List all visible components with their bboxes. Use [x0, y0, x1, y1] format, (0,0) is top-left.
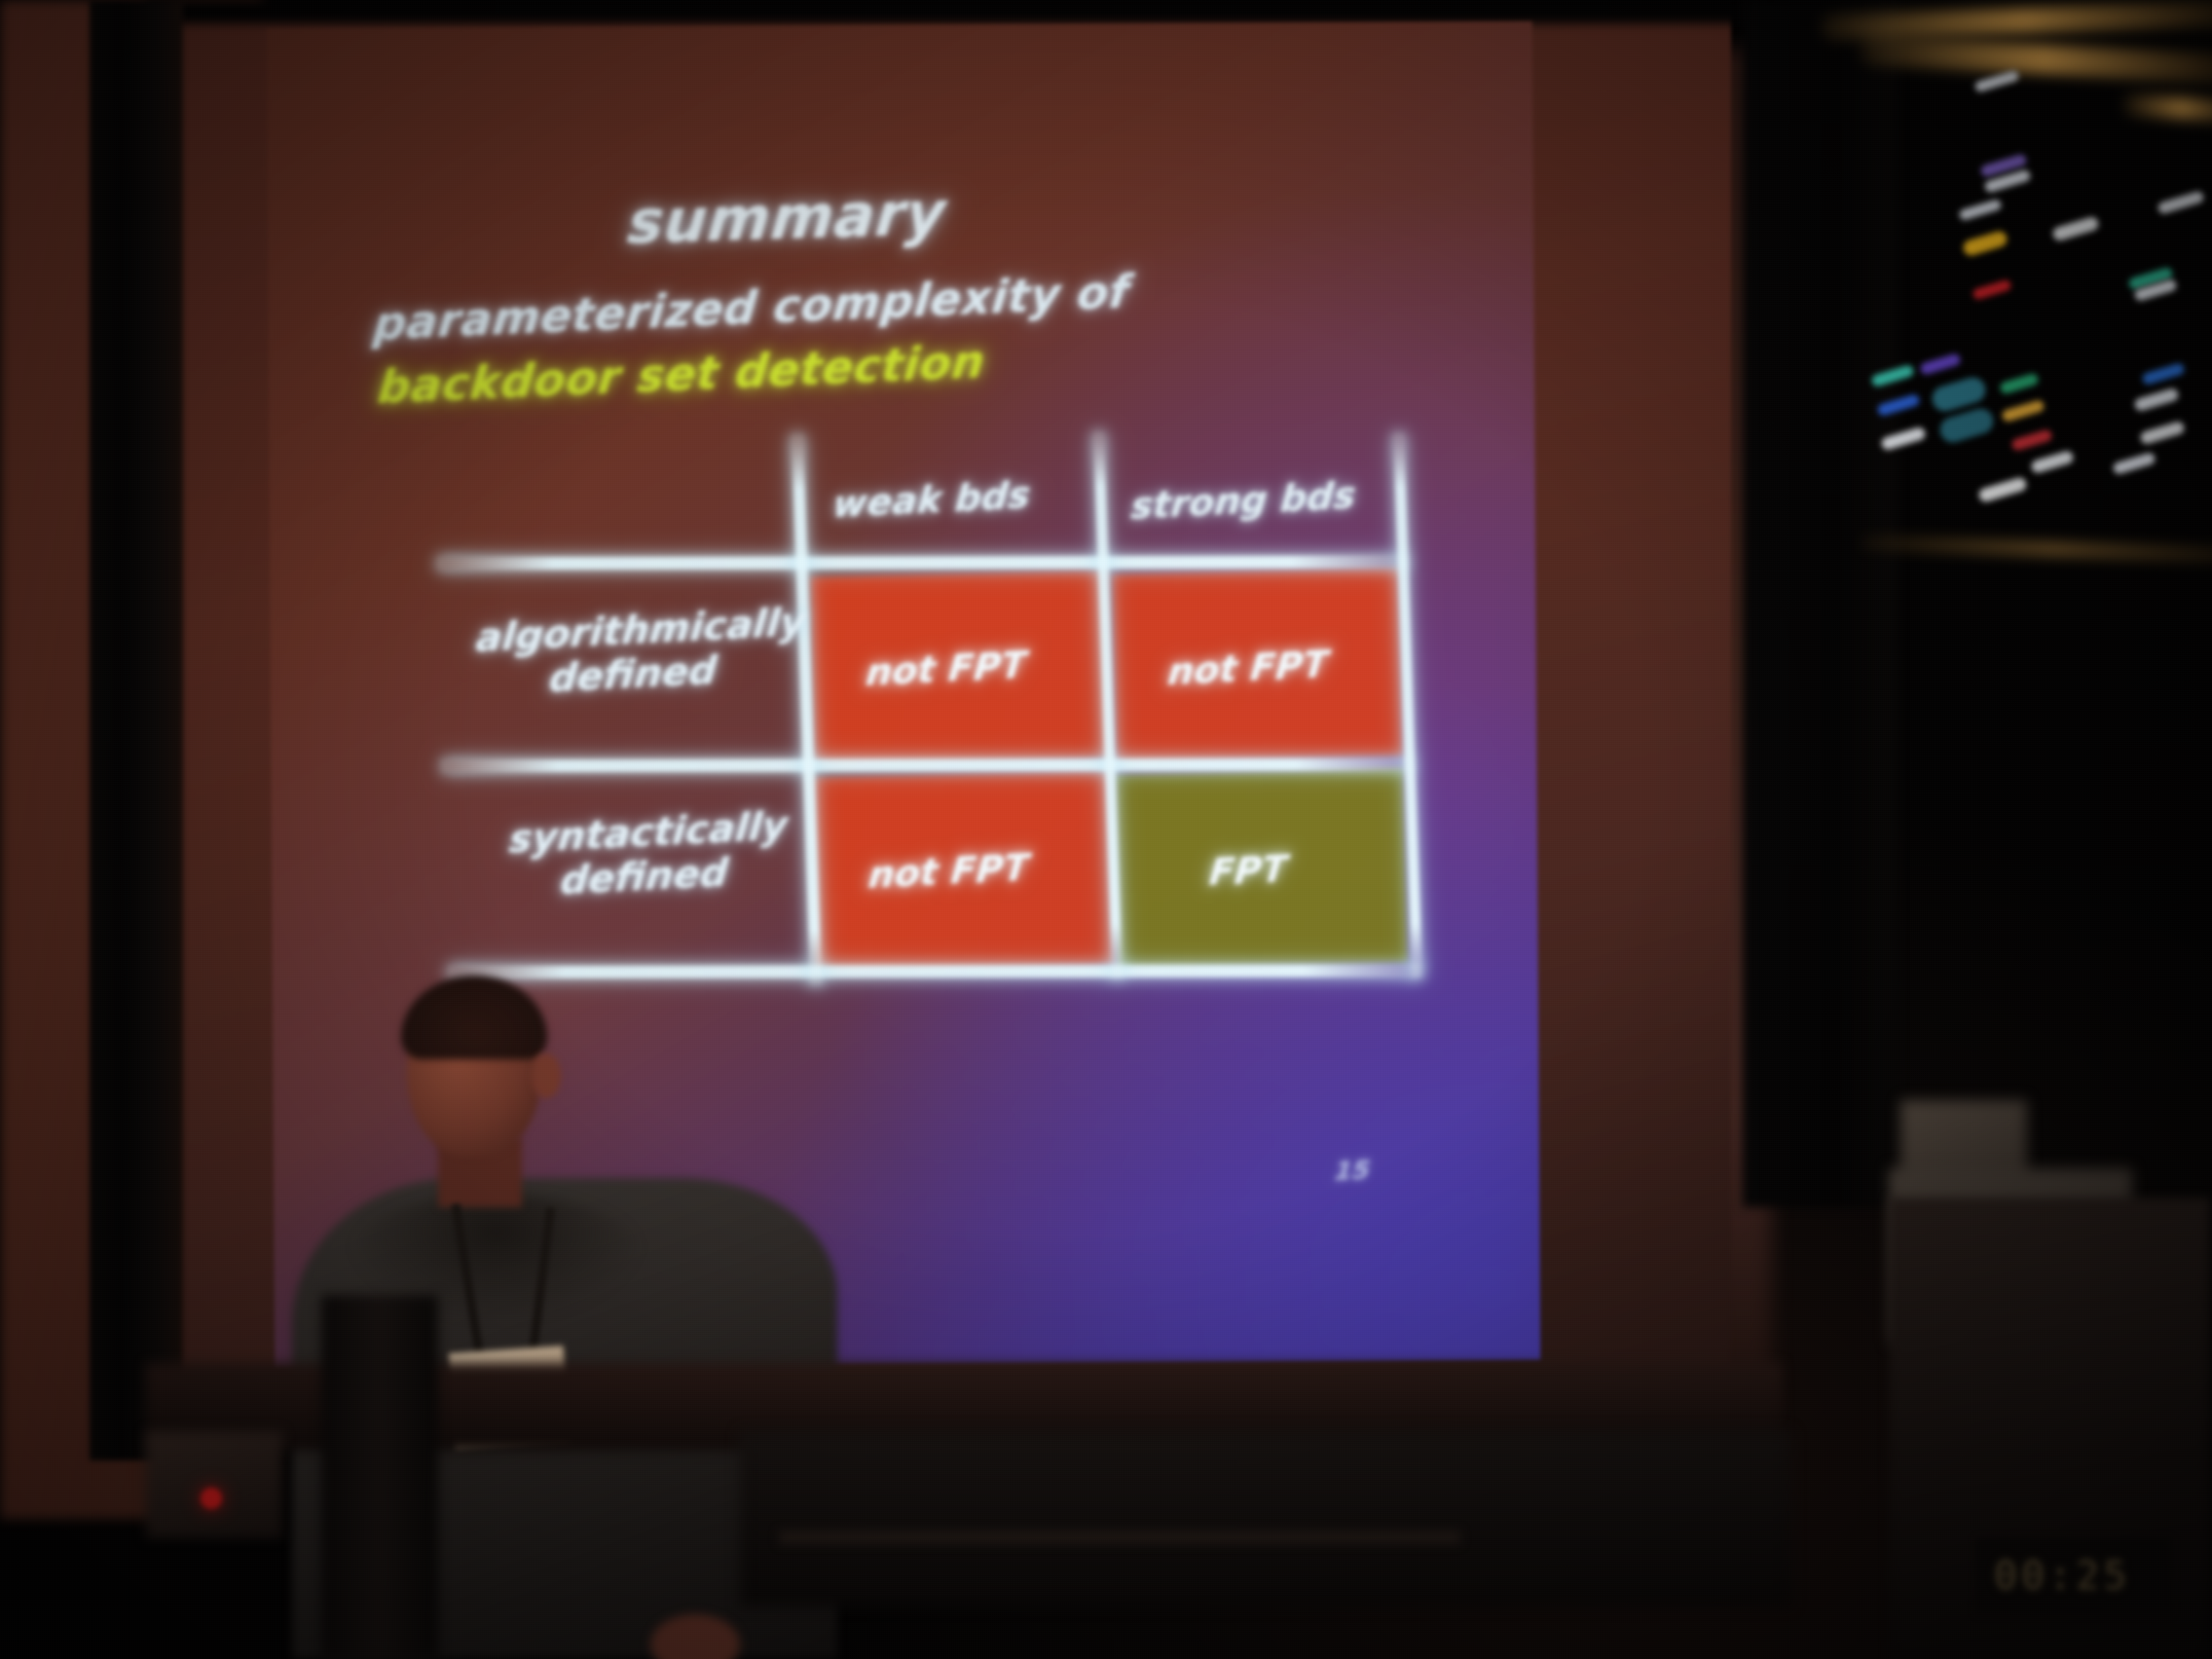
light-streak-15 — [2001, 399, 2046, 423]
light-streak-22 — [2112, 452, 2157, 475]
table-column-header-strong-bds: strong bds — [1129, 474, 1358, 529]
screen-left-frame-bar — [90, 0, 183, 1460]
ceiling-beam-lower — [1860, 535, 2212, 564]
ceiling-beam-short — [2121, 93, 2212, 123]
slide-subtitle-line-1: parameterized complexity of — [371, 265, 1132, 350]
ceiling-beam-top — [1821, 1, 2212, 41]
photograph-canvas: summary parameterized complexity of back… — [0, 0, 2212, 1659]
table-rule-horizontal-top — [437, 556, 1407, 571]
light-streak-18 — [1977, 476, 2028, 503]
table-cell-value-r1c2: not FPT — [1166, 643, 1331, 693]
screen-top-frame — [146, 0, 1762, 23]
bench-row — [740, 1431, 1791, 1606]
bench-edge-highlight — [779, 1530, 1460, 1544]
light-streak-11 — [1919, 352, 1962, 376]
light-streak-14 — [1999, 372, 2040, 394]
light-streak-20 — [2133, 387, 2180, 413]
light-streak-5 — [2051, 215, 2100, 241]
light-streak-10 — [1880, 426, 1927, 452]
table-cell-value-r2c2: FPT — [1207, 847, 1289, 894]
light-streak-13 — [1936, 405, 1996, 445]
light-streak-6 — [2157, 190, 2204, 215]
table-column-header-weak-bds: weak bds — [831, 473, 1033, 526]
dark-pillar — [321, 1295, 438, 1659]
light-streak-1 — [1973, 70, 2019, 93]
power-led-indicator — [201, 1488, 222, 1509]
av-equipment-box — [146, 1431, 282, 1538]
presenter-hair — [401, 976, 547, 1059]
table-cell-value-r1c1: not FPT — [864, 644, 1028, 694]
light-streak-amber — [1962, 230, 2009, 258]
ceiling-beam-second — [1859, 35, 2212, 84]
light-streak-16 — [2010, 428, 2053, 452]
light-streak-8 — [1870, 364, 1915, 387]
av-rack-readout-text: 00:25 — [1994, 1554, 2157, 1599]
light-streak-4 — [1958, 199, 2002, 221]
slide-title: summary — [625, 177, 949, 258]
presenter-ear — [532, 1053, 561, 1098]
slide-page-number: 15 — [1333, 1156, 1371, 1186]
ceiling-light-streaks — [1830, 0, 2212, 876]
light-streak-19 — [2141, 362, 2186, 386]
light-streak-17 — [2030, 450, 2075, 474]
light-streak-red — [1972, 278, 2011, 300]
table-rule-horizontal-middle — [442, 758, 1412, 773]
light-streak-21 — [2139, 421, 2186, 446]
light-streak-9 — [1876, 393, 1921, 417]
table-cell-value-r2c1: not FPT — [866, 846, 1031, 897]
